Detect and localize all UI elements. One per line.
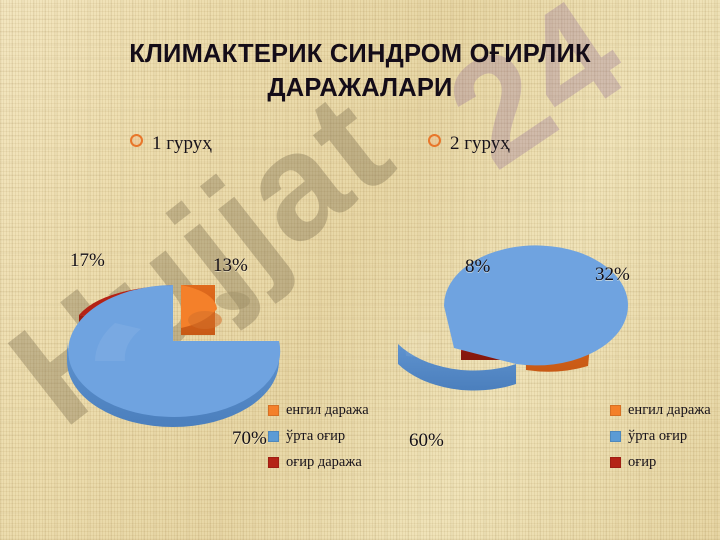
pct-label-engil-group-2: 32% [595,264,630,286]
legend-swatch-engil-daraja [268,405,279,416]
legend-swatch-ogir [610,457,621,468]
legend-swatch-urta-ogir [268,431,279,442]
legend-label-ogir: оғир [628,454,656,471]
group-2-heading: 2 гуруҳ [428,133,510,155]
group-1-label-text: 1 гуруҳ [152,133,212,154]
legend-item[interactable]: ўрта оғир [610,428,711,445]
legend-item[interactable]: оғир даража [268,454,369,471]
bullet-icon [428,134,441,147]
bullet-icon [130,134,143,147]
pct-label-urta-group-2: 60% [409,430,444,452]
pct-label-ogir-group-1: 17% [70,250,105,272]
legend-label-ogir-daraja: оғир даража [286,454,362,471]
legend-label-urta-ogir: ўрта оғир [286,428,345,445]
legend-item[interactable]: енгил даража [268,402,369,419]
legend-swatch-ogir-daraja [268,457,279,468]
slide-canvas: Hujjat 24 КЛИМАКТЕРИК СИНДРОМ ОҒИРЛИК ДА… [0,0,720,540]
slice-shading-blob [188,311,222,329]
legend-group-1: енгил даража ўрта оғир оғир даража [268,402,369,480]
legend-swatch-urta-ogir [610,431,621,442]
slide-title: КЛИМАКТЕРИК СИНДРОМ ОҒИРЛИК ДАРАЖАЛАРИ [36,38,684,105]
group-1-heading: 1 гуруҳ [130,133,212,155]
slice-highlight [406,330,434,358]
pct-label-ogir-group-2: 8% [465,256,490,278]
slice-shading-blob [216,292,250,310]
legend-item[interactable]: енгил даража [610,402,711,419]
legend-label-engil-daraja: енгил даража [628,402,711,419]
group-2-label-text: 2 гуруҳ [450,133,510,154]
legend-item[interactable]: оғир [610,454,711,471]
pct-label-engil-group-1: 13% [213,255,248,277]
legend-swatch-engil-daraja [610,405,621,416]
legend-item[interactable]: ўрта оғир [268,428,369,445]
legend-group-2: енгил даража ўрта оғир оғир [610,402,711,480]
legend-label-engil-daraja: енгил даража [286,402,369,419]
legend-label-urta-ogir: ўрта оғир [628,428,687,445]
pct-label-urta-group-1: 70% [232,428,267,450]
